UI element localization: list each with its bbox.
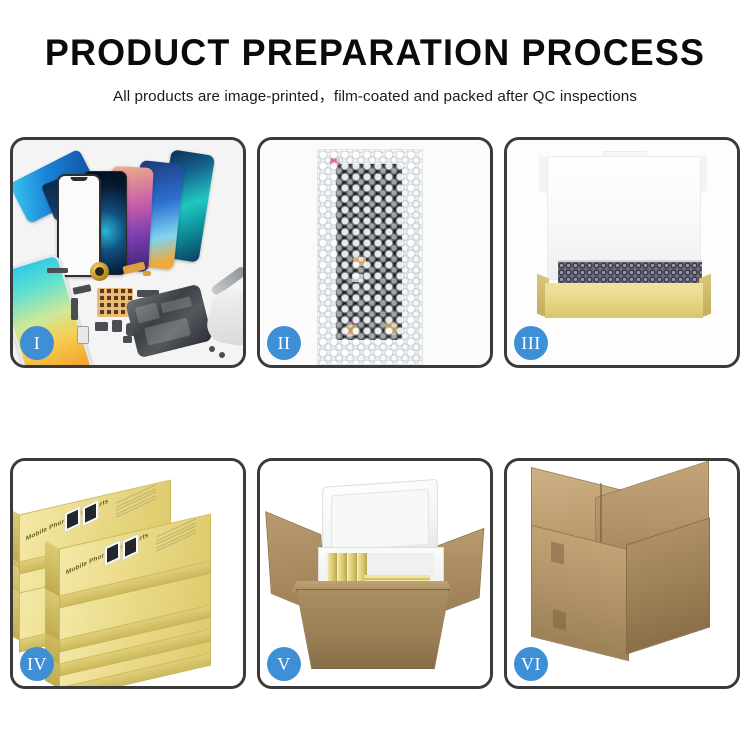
process-step-panel-2[interactable]: II bbox=[257, 137, 493, 368]
backplate-detail-3-icon bbox=[144, 318, 191, 346]
small-part-7-icon bbox=[112, 320, 122, 332]
carton-tape-mark-bottom-icon bbox=[553, 609, 566, 630]
bubble-texture-overlay-icon bbox=[318, 150, 422, 364]
step-badge-5: V bbox=[267, 647, 301, 681]
step-badge-6: VI bbox=[514, 647, 548, 681]
backplate-detail-2-icon bbox=[161, 296, 193, 313]
phone-notch-icon bbox=[71, 177, 88, 181]
box-label-phone-image-2-icon bbox=[122, 533, 139, 561]
step-badge-3: III bbox=[514, 326, 548, 360]
process-step-panel-3[interactable]: III bbox=[504, 137, 740, 368]
box-kraft-front-icon bbox=[545, 283, 703, 318]
small-part-3-icon bbox=[71, 298, 78, 320]
process-step-panel-6[interactable]: VI bbox=[504, 458, 740, 689]
step-badge-4: IV bbox=[20, 647, 54, 681]
flex-cable-2-icon bbox=[143, 271, 151, 276]
process-step-grid: I II bbox=[10, 137, 740, 689]
process-step-panel-5[interactable]: V bbox=[257, 458, 493, 689]
carton-tape-mark-top-icon bbox=[551, 541, 564, 564]
small-part-9-icon bbox=[77, 326, 89, 344]
foam-box-lid-inner-icon bbox=[331, 489, 429, 552]
process-step-panel-1[interactable]: I bbox=[10, 137, 246, 368]
small-part-1-icon bbox=[47, 268, 68, 273]
page-header: PRODUCT PREPARATION PROCESS All products… bbox=[0, 0, 750, 106]
box-label-phone-image-1-icon bbox=[64, 505, 81, 533]
page-title: PRODUCT PREPARATION PROCESS bbox=[11, 34, 739, 73]
carton-body-icon bbox=[296, 589, 450, 669]
carton-top-seam-icon bbox=[600, 483, 602, 547]
bubble-wrap-bag-icon bbox=[317, 149, 423, 365]
box-label-phone-image-2-icon bbox=[82, 499, 99, 527]
backplate-detail-1-icon bbox=[135, 303, 160, 324]
phone-screen-blank-icon bbox=[57, 174, 101, 277]
screw-2-icon bbox=[219, 352, 225, 358]
step-badge-1: I bbox=[20, 326, 54, 360]
process-step-panel-4[interactable]: Mobile Phone Spare Parts bbox=[10, 458, 246, 689]
small-part-10-icon bbox=[123, 336, 132, 343]
screw-1-icon bbox=[209, 346, 215, 352]
box-label-spec-lines-icon bbox=[156, 518, 196, 554]
page-subtitle: All products are image-printed，film-coat… bbox=[0, 84, 750, 106]
speaker-coil-part-icon bbox=[90, 262, 109, 281]
step-badge-2: II bbox=[267, 326, 301, 360]
box-label-phone-image-1-icon bbox=[104, 539, 121, 567]
small-part-6-icon bbox=[95, 322, 108, 331]
box-label-spec-lines-icon bbox=[116, 484, 156, 520]
